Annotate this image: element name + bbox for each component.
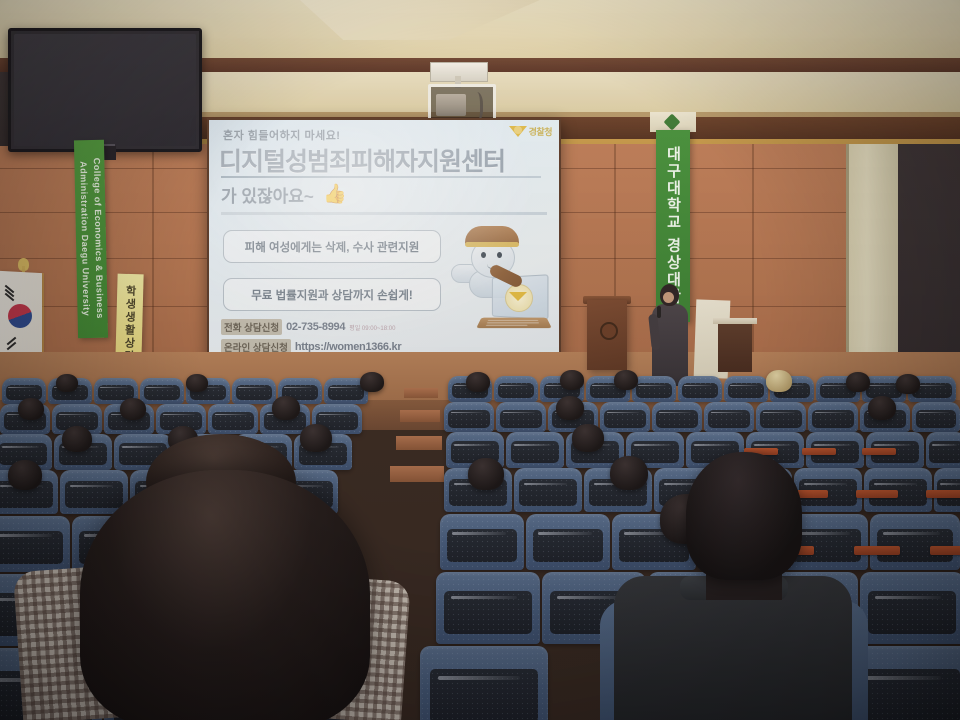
slide-title: 디지털성범죄피해자지원센터 [219, 142, 505, 178]
side-table-leg [718, 324, 752, 372]
auditorium-photo: 경찰청 혼자 힘들어하지 마세요! 디지털성범죄피해자지원센터 가 있잖아요~ … [0, 0, 960, 720]
projector-icon [436, 94, 466, 116]
presenter-face [663, 292, 674, 303]
audience-head [8, 460, 42, 490]
contact-hours: 평일 09:00~18:00 [349, 323, 395, 332]
audience-head [18, 398, 44, 420]
slide-divider [221, 212, 547, 215]
seat [140, 378, 184, 404]
seat [506, 432, 564, 468]
audience-head [300, 424, 332, 452]
seat [926, 432, 960, 468]
audience-head [556, 396, 584, 420]
ceiling-underside [180, 72, 960, 116]
audience-head [896, 374, 920, 394]
audience-head [468, 458, 504, 490]
mascot-eye-right [497, 252, 502, 258]
seat [232, 378, 276, 404]
slide-message-box: 무료 법률지원과 상담까지 손쉽게! [223, 278, 441, 311]
contact-phone: 02-735-8994 [286, 321, 345, 333]
seat [0, 516, 70, 572]
banner-left-text: College of Economics & Business Administ… [74, 140, 108, 339]
seat-armrest-tablet [856, 490, 898, 498]
seat [496, 402, 546, 432]
seat-armrest-tablet [930, 546, 960, 555]
seat [208, 404, 258, 434]
audience-head [846, 372, 870, 392]
audience-head [186, 374, 208, 392]
seat-armrest-tablet [862, 448, 896, 455]
audience-head [56, 374, 78, 392]
wall-mounted-tv[interactable] [8, 28, 202, 152]
foreground-person-long-hair [80, 470, 370, 720]
mascot-eye-left [481, 252, 486, 258]
slide-subtitle: 가 있잖아요~ [221, 182, 314, 207]
seat [526, 514, 610, 570]
laptop-keyboard-icon [476, 318, 552, 329]
audience-head [560, 370, 584, 390]
audience-head [272, 396, 300, 420]
seat [600, 402, 650, 432]
police-agency-logo: 경찰청 [509, 125, 552, 138]
foreground-man-head [686, 452, 802, 580]
audience-head [610, 456, 648, 490]
seat [870, 514, 960, 570]
audience-head [62, 426, 92, 452]
mascot-cap-band [465, 242, 519, 247]
seat [808, 402, 858, 432]
slide-kicker-text: 혼자 힘들어하지 마세요! [223, 127, 340, 143]
seat [514, 468, 582, 512]
audience-head [868, 396, 896, 420]
seat [420, 646, 548, 720]
police-mascot-illustration [449, 218, 549, 336]
audience-head [360, 372, 384, 392]
seat [652, 402, 702, 432]
seat [860, 572, 960, 644]
audience-head-blonde [766, 370, 792, 392]
tv-screen [14, 34, 196, 146]
slide-message-box: 피해 여성에게는 삭제, 수사 관련지원 [223, 230, 441, 263]
seat-armrest-tablet [926, 490, 960, 498]
seat [756, 402, 806, 432]
seat [494, 376, 538, 402]
seat [440, 514, 524, 570]
seat [678, 376, 722, 402]
audience-head [614, 370, 638, 390]
police-emblem-icon [509, 126, 527, 137]
podium-emblem-icon [600, 322, 618, 340]
microphone-icon [657, 306, 661, 318]
seat-armrest-tablet [854, 546, 900, 555]
audience-head [466, 372, 490, 392]
seat [724, 376, 768, 402]
seat [704, 402, 754, 432]
badge-wing-icon [509, 292, 527, 301]
seat-armrest-tablet [802, 448, 836, 455]
police-logo-text: 경찰청 [529, 125, 552, 138]
slide-title-underline [221, 176, 541, 178]
audience-head [120, 398, 146, 420]
projection-screen: 경찰청 혼자 힘들어하지 마세요! 디지털성범죄피해자지원센터 가 있잖아요~ … [207, 118, 561, 365]
presentation-slide: 경찰청 혼자 힘들어하지 마세요! 디지털성범죄피해자지원센터 가 있잖아요~ … [209, 120, 559, 363]
seat [444, 402, 494, 432]
audience-head [572, 424, 604, 452]
slide-contact-row: 전화 상담신청 02-735-8994 평일 09:00~18:00 [221, 319, 395, 335]
banner-college-english: College of Economics & Business Administ… [74, 140, 108, 339]
seat [436, 572, 540, 644]
contact-label: 전화 상담신청 [221, 319, 282, 335]
seat [912, 402, 960, 432]
seat [632, 376, 676, 402]
thumbs-up-icon: 👍 [323, 182, 347, 206]
